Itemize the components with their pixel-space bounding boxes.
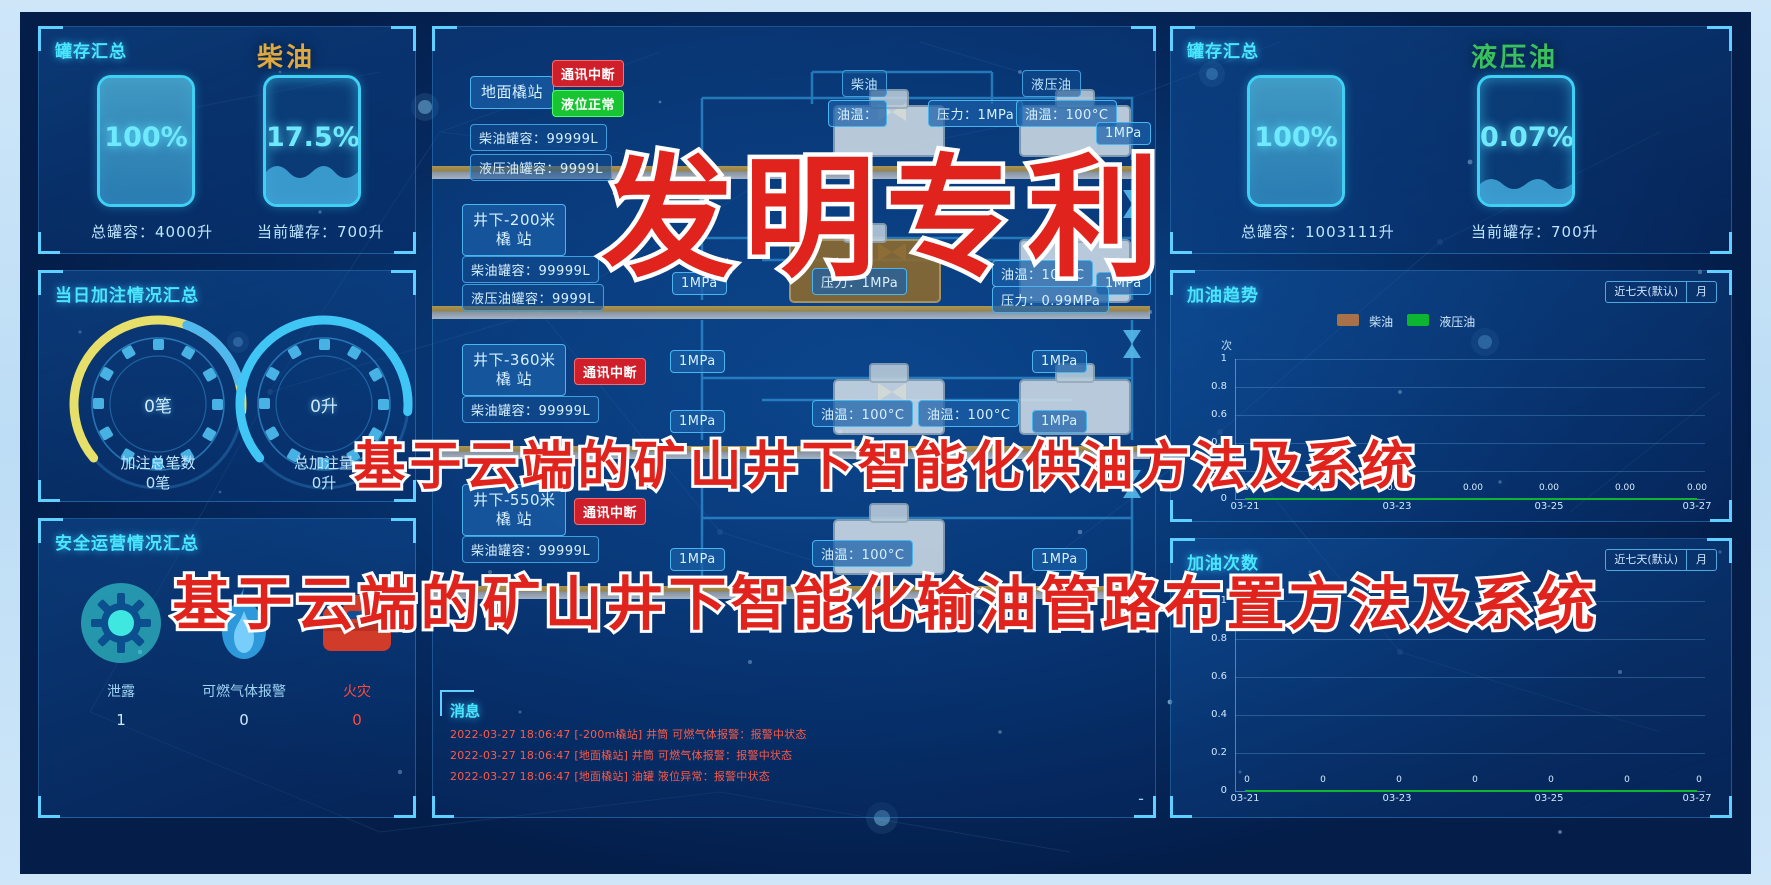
label-line-2: 橇 站 [473, 370, 555, 389]
tank-percent-label: 17.5% [266, 122, 358, 153]
message-corner-bracket [440, 690, 474, 716]
left-tank-summary-title: 罐存汇总 [55, 37, 127, 62]
tank-caption: 总罐容：4000升 [91, 221, 201, 242]
gas-alarm-label: 可燃气体报警 [179, 681, 309, 701]
point-label: 0 [1616, 775, 1638, 785]
x-tick: 03-23 [1375, 501, 1419, 512]
label-line-2: 橇 站 [473, 510, 555, 529]
leak-indicator[interactable]: 泄露 1 [61, 577, 181, 729]
legend-label-hydraulic: 液压油 [1439, 315, 1475, 329]
point-label: 0 [1688, 775, 1710, 785]
point-label: 0 [1388, 775, 1410, 785]
right-total-capacity-gauge: 100% 总罐容：1003111升 [1241, 75, 1351, 242]
leak-label: 泄露 [61, 681, 181, 701]
point-label: 0 [1236, 775, 1258, 785]
right-current-stock-gauge: 0.07% 当前罐存：700升 [1471, 75, 1581, 242]
caption-line-1: 加注总笔数 [63, 453, 253, 473]
tank-caption: 当前罐存：700升 [1471, 221, 1581, 242]
tank-wave [266, 158, 358, 204]
x-tick: 03-21 [1223, 501, 1267, 512]
ground-skid-station-label[interactable]: 地面橇站 [470, 76, 554, 109]
point-label: 0 [1540, 775, 1562, 785]
refuel-count-caption: 加注总笔数 0笔 [63, 453, 253, 494]
tank-percent-label: 0.07% [1480, 122, 1572, 153]
ground-hydraulic-title: 液压油 [1022, 70, 1081, 97]
x-tick: 03-25 [1527, 793, 1571, 804]
mpa-tag-4: 1MPa [1032, 350, 1087, 373]
message-panel: 消息 2022-03-27 18:06:47 [-200m橇站] 井筒 可燃气体… [450, 700, 1150, 810]
count-range-default-option[interactable]: 近七天(默认) [1606, 550, 1687, 570]
underground-550m-comm-status: 通讯中断 [574, 498, 646, 525]
tank-percent-label: 100% [1250, 122, 1342, 153]
x-tick: 03-27 [1675, 501, 1719, 512]
collapse-handle[interactable]: - [1132, 794, 1150, 808]
message-line: 2022-03-27 18:06:47 [-200m橇站] 井筒 可燃气体报警：… [450, 726, 1150, 742]
left-tank-summary-accent: 柴油 [257, 37, 315, 74]
left-tank-summary-panel: 罐存汇总 柴油 100% 总罐容：4000升 17.5% 当前罐存：700升 [38, 26, 416, 254]
legend-label-diesel: 柴油 [1369, 315, 1393, 329]
patent-badge-watermark: 发明专利 [602, 112, 1170, 303]
right-tank-summary-title: 罐存汇总 [1187, 37, 1259, 62]
underground-360m-diesel-capacity: 柴油罐容：99999L [462, 396, 599, 423]
x-tick: 03-25 [1527, 501, 1571, 512]
x-tick: 03-27 [1675, 793, 1719, 804]
mpa-tag-3: 1MPa [670, 350, 725, 373]
image-frame: 罐存汇总 柴油 100% 总罐容：4000升 17.5% 当前罐存：700升 当… [0, 0, 1771, 885]
legend-swatch-diesel [1337, 314, 1359, 326]
refuel-trend-title: 加油趋势 [1187, 281, 1259, 306]
ground-hydraulic-capacity: 液压油罐容：9999L [470, 154, 612, 181]
patent-title-line-2-watermark: 基于云端的矿山井下智能化输油管路布置方法及系统 [172, 557, 1598, 641]
fire-alarm-label: 火灾 [307, 681, 407, 701]
point-label: 0.00 [1538, 483, 1560, 493]
point-label: 0.00 [1614, 483, 1636, 493]
underground-360m-comm-status: 通讯中断 [574, 358, 646, 385]
underground-360m-label[interactable]: 井下-360米 橇 站 [462, 344, 566, 396]
left-total-capacity-gauge: 100% 总罐容：4000升 [91, 75, 201, 242]
ground-diesel-capacity: 柴油罐容：99999L [470, 124, 607, 151]
gear-ring-icon [75, 577, 167, 669]
trend-range-default-option[interactable]: 近七天(默认) [1606, 282, 1687, 302]
legend-item-diesel[interactable]: 柴油 [1337, 311, 1393, 330]
u360-temp-b: 油温：100°C [918, 400, 1019, 427]
tank-wave [1480, 174, 1572, 204]
left-current-stock-gauge: 17.5% 当前罐存：700升 [257, 75, 367, 242]
message-line: 2022-03-27 18:06:47 [地面橇站] 油罐 液位异常：报警中状态 [450, 768, 1150, 784]
right-tank-summary-panel: 罐存汇总 液压油 100% 总罐容：1003111升 0.07% 当前罐存：70… [1170, 26, 1732, 254]
label-line-2: 橇 站 [473, 230, 555, 249]
message-line: 2022-03-27 18:06:47 [地面橇站] 井筒 可燃气体报警：报警中… [450, 747, 1150, 763]
tank-percent-label: 100% [100, 122, 192, 153]
underground-200m-diesel-capacity: 柴油罐容：99999L [462, 256, 599, 283]
trend-range-selector[interactable]: 近七天(默认) 月 [1605, 281, 1717, 303]
point-label: 0.00 [1686, 483, 1708, 493]
point-label: 0 [1312, 775, 1334, 785]
count-range-month-option[interactable]: 月 [1687, 550, 1716, 570]
patent-title-line-1-watermark: 基于云端的矿山井下智能化供油方法及系统 [353, 424, 1417, 499]
gas-alarm-value: 0 [179, 711, 309, 729]
ground-diesel-title: 柴油 [842, 70, 887, 97]
tank-caption: 总罐容：1003111升 [1241, 221, 1351, 242]
underground-200m-label[interactable]: 井下-200米 橇 站 [462, 204, 566, 256]
x-tick: 03-23 [1375, 793, 1419, 804]
leak-value: 1 [61, 711, 181, 729]
u360-temp-a: 油温：100°C [812, 400, 913, 427]
legend-swatch-hydraulic [1407, 314, 1429, 326]
underground-200m-hydraulic-capacity: 液压油罐容：9999L [462, 284, 604, 311]
x-tick: 03-21 [1223, 793, 1267, 804]
right-tank-summary-accent: 液压油 [1471, 37, 1558, 74]
dashboard-screen: 罐存汇总 柴油 100% 总罐容：4000升 17.5% 当前罐存：700升 当… [20, 12, 1751, 874]
legend-item-hydraulic[interactable]: 液压油 [1407, 311, 1475, 330]
tank-shape: 17.5% [263, 75, 361, 207]
tank-shape: 100% [1247, 75, 1345, 207]
label-line-1: 井下-360米 [473, 351, 555, 370]
caption-line-2: 0笔 [63, 473, 253, 493]
message-title: 消息 [450, 700, 1150, 721]
count-range-selector[interactable]: 近七天(默认) 月 [1605, 549, 1717, 571]
tank-shape: 100% [97, 75, 195, 207]
refuel-today-title: 当日加注情况汇总 [55, 281, 199, 306]
label-line-1: 井下-200米 [473, 211, 555, 230]
fire-alarm-value: 0 [307, 711, 407, 729]
safety-title: 安全运营情况汇总 [55, 529, 199, 554]
trend-legend: 柴油 液压油 [1337, 311, 1475, 330]
tank-shape: 0.07% [1477, 75, 1575, 207]
trend-range-month-option[interactable]: 月 [1687, 282, 1716, 302]
ground-comm-status: 通讯中断 [552, 60, 624, 87]
point-label: 0.00 [1462, 483, 1484, 493]
tank-caption: 当前罐存：700升 [257, 221, 367, 242]
point-label: 0 [1464, 775, 1486, 785]
